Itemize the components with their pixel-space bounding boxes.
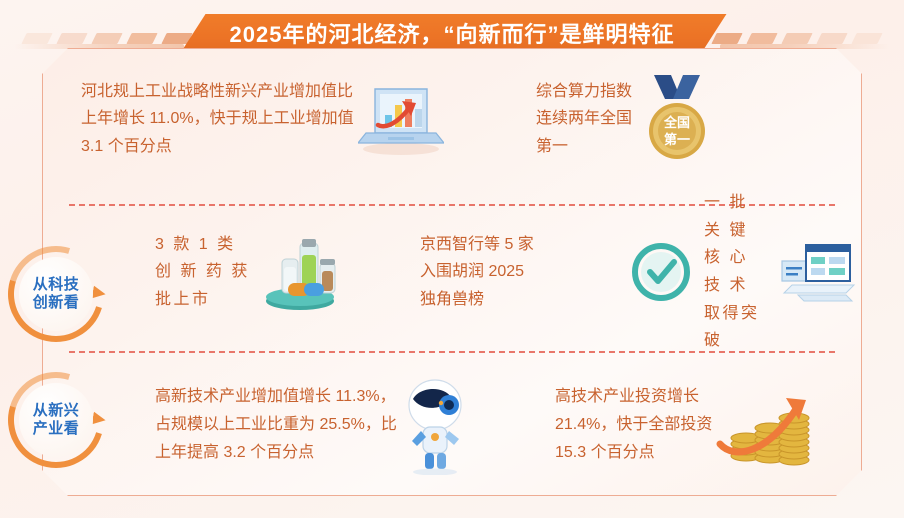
stat-text: 3 款 1 类 创 新 药 获 批上市: [155, 231, 250, 314]
content-card: 河北规上工业战略性新兴产业增加值比 上年增长 11.0%，快于规上工业增加值 3…: [42, 48, 862, 496]
stat-text: 河北规上工业战略性新兴产业增加值比 上年增长 11.0%，快于规上工业增加值 3…: [81, 78, 354, 161]
stripe-icon: [816, 33, 847, 44]
gold-coins-growth-icon: [716, 382, 814, 468]
stat-cell-unicorn-list: 京西智行等 5 家 入围胡润 2025 独角兽榜: [420, 231, 630, 314]
stat-cell-core-tech: 一 批 关 键 核 心 技 术 取得突破: [630, 189, 860, 354]
stripe-icon: [781, 33, 812, 44]
stat-text: 一 批 关 键 核 心 技 术 取得突破: [704, 189, 762, 354]
stat-text: 综合算力指数 连续两年全国 第一: [536, 78, 632, 161]
stripe-icon: [56, 33, 87, 44]
badge-label-line2: 产业看: [33, 420, 80, 438]
stripe-icon: [711, 33, 742, 44]
stat-cell-new-drugs: 3 款 1 类 创 新 药 获 批上市: [155, 231, 420, 314]
medal-label-bottom: 第一: [664, 132, 690, 147]
stat-text: 京西智行等 5 家 入围胡润 2025 独角兽榜: [420, 231, 534, 314]
desktop-computer-icon: [768, 235, 860, 309]
badge-label-line2: 创新看: [33, 294, 80, 312]
stat-cell-hightech-output: 高新技术产业增加值增长 11.3%， 占规模以上工业比重为 25.5%，比 上年…: [155, 375, 555, 475]
medal-label-top: 全国: [663, 115, 690, 130]
stat-cell-hightech-investment: 高技术产业投资增长 21.4%，快于全部投资 15.3 个百分点: [555, 382, 855, 468]
robot-icon: [399, 375, 471, 475]
row-tech-innovation: 3 款 1 类 创 新 药 获 批上市: [43, 189, 861, 354]
laptop-chart-icon: [358, 81, 444, 157]
stat-cell-computing-index: 综合算力指数 连续两年全国 第一 全国 第一: [536, 73, 856, 165]
badge-label-line1: 从新兴: [33, 402, 80, 420]
row-industry: 河北规上工业战略性新兴产业增加值比 上年增长 11.0%，快于规上工业增加值 3…: [43, 49, 861, 189]
stat-text: 高新技术产业增加值增长 11.3%， 占规模以上工业比重为 25.5%，比 上年…: [155, 383, 397, 466]
stripe-icon: [21, 33, 52, 44]
badge-tech-innovation: 从科技 创新看: [8, 246, 104, 342]
stat-text: 高技术产业投资增长 21.4%，快于全部投资 15.3 个百分点: [555, 383, 712, 466]
badge-emerging-industry: 从新兴 产业看: [8, 372, 104, 468]
check-circle-icon: [630, 241, 692, 303]
page-title: 2025年的河北经济，“向新而行”是鲜明特征: [230, 21, 675, 49]
stripe-icon: [126, 33, 157, 44]
stat-cell-strategic-emerging: 河北规上工业战略性新兴产业增加值比 上年增长 11.0%，快于规上工业增加值 3…: [81, 78, 536, 161]
medicine-vials-icon: [254, 231, 346, 313]
badge-label: 从新兴 产业看: [19, 383, 93, 457]
stripe-icon: [851, 33, 882, 44]
badge-label-line1: 从科技: [33, 276, 80, 294]
stripe-icon: [91, 33, 122, 44]
stripe-icon: [746, 33, 777, 44]
row-emerging-industry: 高新技术产业增加值增长 11.3%， 占规模以上工业比重为 25.5%，比 上年…: [43, 355, 861, 495]
badge-label: 从科技 创新看: [19, 257, 93, 331]
gold-medal-icon: 全国 第一: [638, 73, 716, 165]
